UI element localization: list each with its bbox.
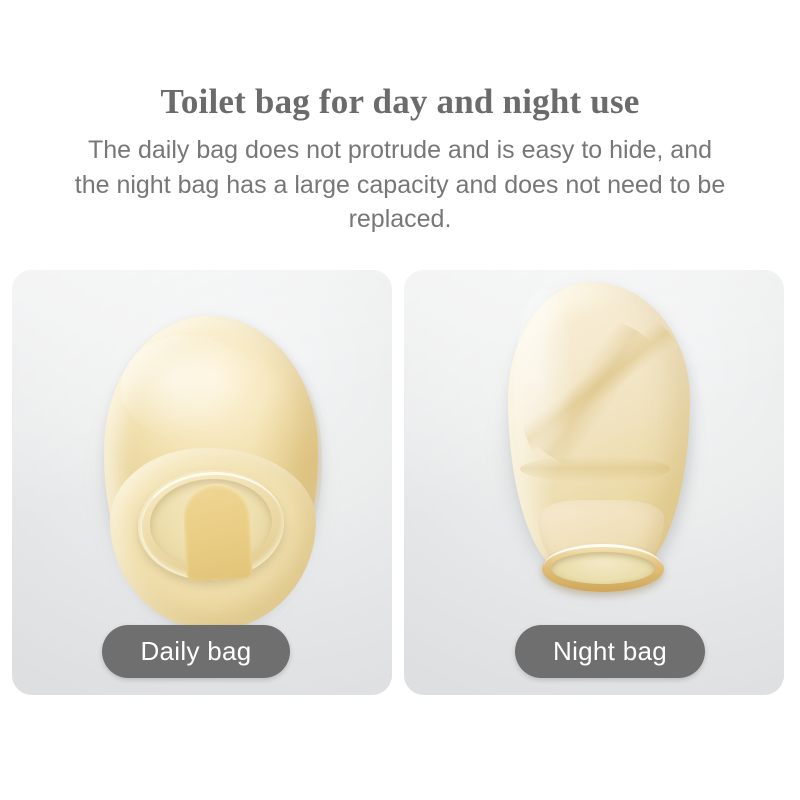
badge-daily-bag: Daily bag (102, 625, 290, 678)
night-bag-highlight (514, 288, 574, 498)
product-card-night[interactable]: Night bag (404, 270, 784, 695)
daily-bag-photo (70, 298, 340, 643)
night-bag-rim-highlight (544, 544, 662, 589)
badge-night-label: Night bag (553, 636, 667, 667)
night-bag-photo (490, 278, 720, 618)
product-comparison: Daily bag Night bag (12, 270, 788, 695)
badge-night-bag: Night bag (515, 625, 705, 678)
product-card-daily[interactable]: Daily bag (12, 270, 392, 695)
page-title: Toilet bag for day and night use (0, 0, 800, 119)
badge-daily-label: Daily bag (140, 636, 251, 667)
header: Toilet bag for day and night use The dai… (0, 0, 800, 237)
page-subtitle: The daily bag does not protrude and is e… (70, 119, 730, 237)
